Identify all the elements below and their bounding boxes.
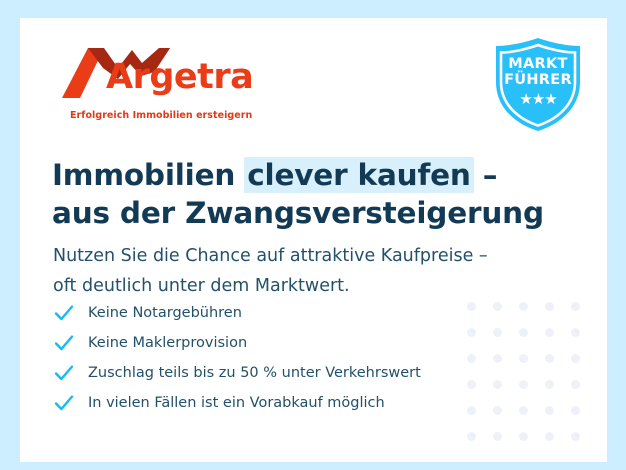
headline-line-1: Immobilien clever kaufen – (52, 156, 552, 194)
decor-dot (545, 328, 554, 337)
decor-dot (571, 432, 580, 441)
benefit-item: Keine Notargebühren (53, 298, 523, 328)
check-icon (53, 392, 75, 414)
headline: Immobilien clever kaufen – aus der Zwang… (52, 156, 552, 232)
decor-dot (519, 432, 528, 441)
subheadline-line-1: Nutzen Sie die Chance auf attraktive Kau… (53, 241, 553, 271)
headline-line-2: aus der Zwangsversteigerung (52, 194, 552, 232)
benefit-item: Keine Maklerprovision (53, 328, 523, 358)
decor-dot (571, 328, 580, 337)
decor-dot (571, 380, 580, 389)
decor-dot (545, 354, 554, 363)
decor-dot (571, 354, 580, 363)
logo-tagline: Erfolgreich Immobilien ersteigern (70, 110, 252, 121)
subheadline: Nutzen Sie die Chance auf attraktive Kau… (53, 241, 553, 301)
headline-highlight: clever kaufen (244, 157, 473, 193)
logo-wordmark: Argetra (106, 60, 253, 95)
decor-dot (493, 432, 502, 441)
argetra-logo[interactable]: Argetra Erfolgreich Immobilien ersteiger… (58, 46, 228, 128)
benefit-label: Zuschlag teils bis zu 50 % unter Verkehr… (88, 365, 421, 381)
headline-prefix: Immobilien (52, 158, 245, 192)
benefit-label: In vielen Fällen ist ein Vorabkauf mögli… (88, 395, 385, 411)
check-icon (53, 302, 75, 324)
subheadline-line-2: oft deutlich unter dem Marktwert. (53, 271, 553, 301)
decor-dot (545, 432, 554, 441)
promo-banner: Argetra Erfolgreich Immobilien ersteiger… (0, 0, 626, 470)
decor-dot (545, 380, 554, 389)
decor-dot (571, 302, 580, 311)
benefit-label: Keine Maklerprovision (88, 335, 247, 351)
benefits-list: Keine NotargebührenKeine Maklerprovision… (53, 298, 523, 418)
market-leader-badge: MARKT FÜHRER ★★★ (488, 34, 588, 134)
benefit-item: Zuschlag teils bis zu 50 % unter Verkehr… (53, 358, 523, 388)
headline-suffix: – (473, 158, 498, 192)
shield-icon (488, 34, 588, 134)
check-icon (53, 362, 75, 384)
check-icon (53, 332, 75, 354)
decor-dot (571, 406, 580, 415)
benefit-label: Keine Notargebühren (88, 305, 242, 321)
badge-stars: ★★★ (488, 92, 588, 107)
decor-dot (545, 406, 554, 415)
decor-dot (467, 432, 476, 441)
decor-dot (545, 302, 554, 311)
banner-card: Argetra Erfolgreich Immobilien ersteiger… (20, 18, 607, 462)
benefit-item: In vielen Fällen ist ein Vorabkauf mögli… (53, 388, 523, 418)
